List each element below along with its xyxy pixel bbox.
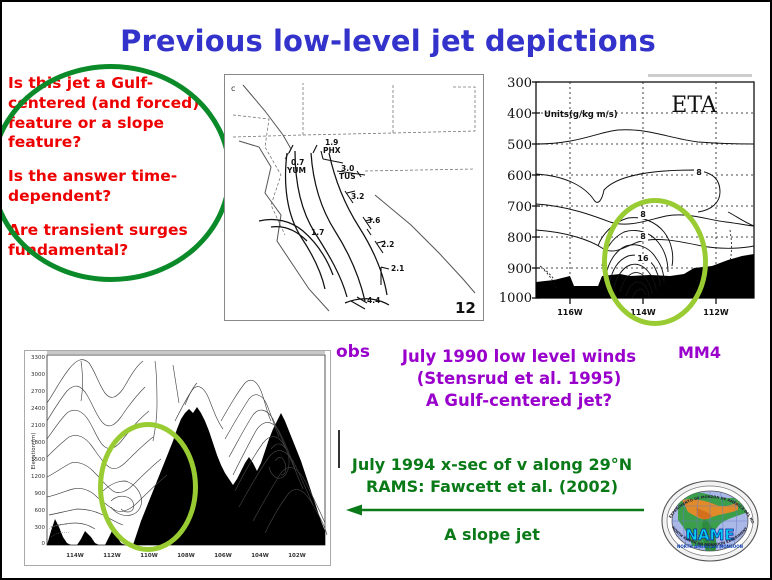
- name-project-logo: NAME NORTH AMERICAN MONSOON EXPERIMENTO …: [658, 472, 762, 570]
- left-arrow: [346, 502, 646, 518]
- svg-text:1200: 1200: [31, 474, 45, 480]
- svg-text:0: 0: [42, 541, 46, 547]
- svg-text:3300: 3300: [31, 355, 45, 361]
- obs-panel-label: obs: [336, 342, 370, 362]
- svg-text:800: 800: [507, 231, 532, 246]
- svg-text:102W: 102W: [288, 553, 306, 559]
- name-logo-graphic: NAME NORTH AMERICAN MONSOON EXPERIMENTO …: [658, 472, 762, 570]
- green-ellipse-highlight-eta: [602, 198, 708, 326]
- svg-text:3.6: 3.6: [367, 216, 380, 225]
- svg-text:600: 600: [35, 508, 46, 514]
- svg-text:2700: 2700: [31, 389, 45, 395]
- svg-text:114W: 114W: [66, 553, 84, 559]
- svg-text:112W: 112W: [703, 308, 729, 317]
- svg-text:108W: 108W: [177, 553, 195, 559]
- svg-text:116W: 116W: [557, 308, 583, 317]
- svg-text:700: 700: [507, 200, 532, 215]
- svg-text:4.4: 4.4: [367, 296, 380, 305]
- svg-text:104W: 104W: [251, 553, 269, 559]
- mm4-panel-label: MM4: [678, 343, 721, 362]
- rams-caption-line-1: July 1994 x-sec of v along 29°N: [332, 454, 652, 476]
- page-title: Previous low-level jet depictions: [2, 24, 772, 58]
- obs-caption-line-1: July 1990 low level winds: [374, 346, 664, 368]
- green-ellipse-highlight-questions: [0, 64, 232, 282]
- obs-caption-line-3: A Gulf-centered jet?: [374, 390, 664, 412]
- svg-text:900: 900: [35, 491, 46, 497]
- svg-text:110W: 110W: [140, 553, 158, 559]
- svg-text:300: 300: [35, 525, 46, 531]
- svg-text:TUS: TUS: [339, 172, 356, 181]
- svg-text:900: 900: [507, 262, 532, 277]
- svg-text:300: 300: [507, 76, 532, 91]
- svg-text:3.2: 3.2: [351, 192, 364, 201]
- rams-y-axis-title: Elevation (m): [31, 433, 37, 470]
- obs-caption: July 1990 low level winds (Stensrud et a…: [374, 346, 664, 411]
- svg-text:500: 500: [507, 138, 532, 153]
- eta-units-label: Units(g/kg m/s): [544, 110, 618, 120]
- svg-text:2.1: 2.1: [391, 264, 404, 273]
- obs-map-corner-label: 12: [455, 299, 476, 317]
- svg-text:2.2: 2.2: [381, 240, 394, 249]
- obs-wind-map-panel: 1.9 PHX 0.7 YUM 3.0 TUS 3.2 3.6 2.2 2.1 …: [224, 74, 484, 321]
- eta-title: ETA: [671, 93, 718, 118]
- rams-caption: July 1994 x-sec of v along 29°N RAMS: Fa…: [332, 454, 652, 497]
- slide-canvas: Previous low-level jet depictions Is thi…: [0, 0, 772, 580]
- svg-text:YUM: YUM: [286, 166, 306, 175]
- svg-text:8: 8: [696, 168, 702, 177]
- svg-text:400: 400: [507, 107, 532, 122]
- svg-text:2400: 2400: [31, 406, 45, 412]
- obs-map-graphic: 1.9 PHX 0.7 YUM 3.0 TUS 3.2 3.6 2.2 2.1 …: [225, 75, 483, 320]
- rams-caption-line-2: RAMS: Fawcett et al. (2002): [332, 476, 652, 498]
- svg-text:1.7: 1.7: [311, 228, 324, 237]
- svg-text:PHX: PHX: [323, 146, 341, 155]
- svg-text:106W: 106W: [214, 553, 232, 559]
- green-ellipse-highlight-rams: [98, 422, 198, 552]
- svg-text:112W: 112W: [103, 553, 121, 559]
- svg-text:1000: 1000: [499, 291, 532, 306]
- slope-jet-conclusion: A slope jet: [332, 525, 652, 544]
- svg-text:c: c: [231, 84, 235, 93]
- obs-caption-line-2: (Stensrud et al. 1995): [374, 368, 664, 390]
- svg-text:2100: 2100: [31, 423, 45, 429]
- svg-text:600: 600: [507, 169, 532, 184]
- svg-text:3000: 3000: [31, 372, 45, 378]
